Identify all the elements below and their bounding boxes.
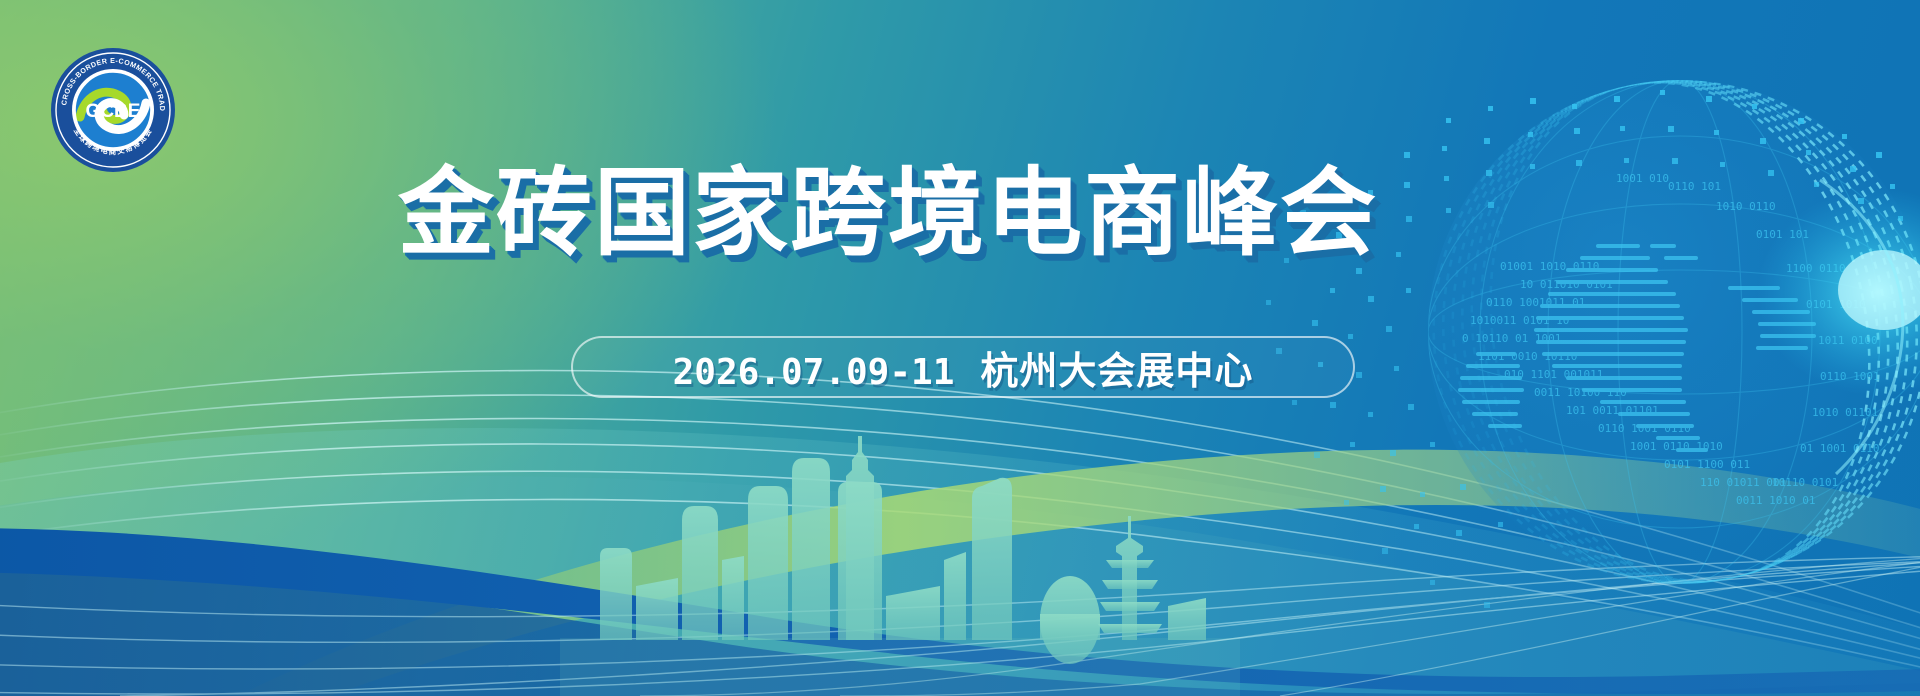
- svg-text:010 1101 001011: 010 1101 001011: [1504, 368, 1603, 381]
- svg-text:0101 1010: 0101 1010: [1806, 298, 1866, 311]
- svg-text:0011 10100 110: 0011 10100 110: [1534, 386, 1627, 399]
- svg-text:0110 1001 0110: 0110 1001 0110: [1598, 422, 1691, 435]
- svg-text:101 0011 01101: 101 0011 01101: [1566, 404, 1659, 417]
- svg-text:1100 0110: 1100 0110: [1786, 262, 1846, 275]
- svg-text:1010 0110: 1010 0110: [1716, 200, 1776, 213]
- page-title: 金砖国家跨境电商峰会: [398, 160, 1378, 268]
- svg-text:110 01011 001: 110 01011 001: [1700, 476, 1786, 489]
- event-date: 2026.07.09-11: [673, 352, 955, 393]
- background-waves: [0, 0, 1920, 696]
- svg-text:0101 101: 0101 101: [1756, 228, 1809, 241]
- svg-text:1001 0110 1010: 1001 0110 1010: [1630, 440, 1723, 453]
- event-venue: 杭州大会展中心: [980, 340, 1253, 395]
- svg-text:01 1001 0110: 01 1001 0110: [1800, 442, 1879, 455]
- event-info-text: 2026.07.09-11 杭州大会展中心: [673, 340, 1254, 395]
- event-info-pill: 2026.07.09-11 杭州大会展中心: [571, 336, 1355, 398]
- svg-text:1010 01101: 1010 01101: [1812, 406, 1878, 419]
- svg-text:0 10110 01 1001: 0 10110 01 1001: [1462, 332, 1561, 345]
- logo-wordmark: GCBE: [86, 101, 141, 122]
- gcbe-logo[interactable]: GLOBAL CROSS-BORDER E-COMMERCE TRADE EXP…: [50, 47, 176, 173]
- svg-text:1010011 0101 10: 1010011 0101 10: [1470, 314, 1569, 327]
- svg-text:0110 1001: 0110 1001: [1820, 370, 1880, 383]
- svg-text:1011 0100: 1011 0100: [1818, 334, 1878, 347]
- svg-text:1001 010: 1001 010: [1616, 172, 1669, 185]
- svg-text:10 011010 0101: 10 011010 0101: [1520, 278, 1613, 291]
- svg-text:01001 1010 0110: 01001 1010 0110: [1500, 260, 1599, 273]
- svg-text:1101 0010 10110: 1101 0010 10110: [1478, 350, 1577, 363]
- digital-globe: 01001 1010 0110 10 011010 0101 0110 1001…: [0, 0, 1920, 696]
- svg-text:0011 1010 01: 0011 1010 01: [1736, 494, 1815, 507]
- svg-text:0101 1100 011: 0101 1100 011: [1664, 458, 1750, 471]
- svg-text:0110 1001011 01: 0110 1001011 01: [1486, 296, 1585, 309]
- svg-text:0110 101: 0110 101: [1668, 180, 1721, 193]
- event-banner: 01001 1010 0110 10 011010 0101 0110 1001…: [0, 0, 1920, 696]
- svg-text:10110 0101: 10110 0101: [1772, 476, 1838, 489]
- banner-text: 金砖国家跨境电商峰会 2026.07.09-11 杭州大会展中心: [0, 0, 1920, 696]
